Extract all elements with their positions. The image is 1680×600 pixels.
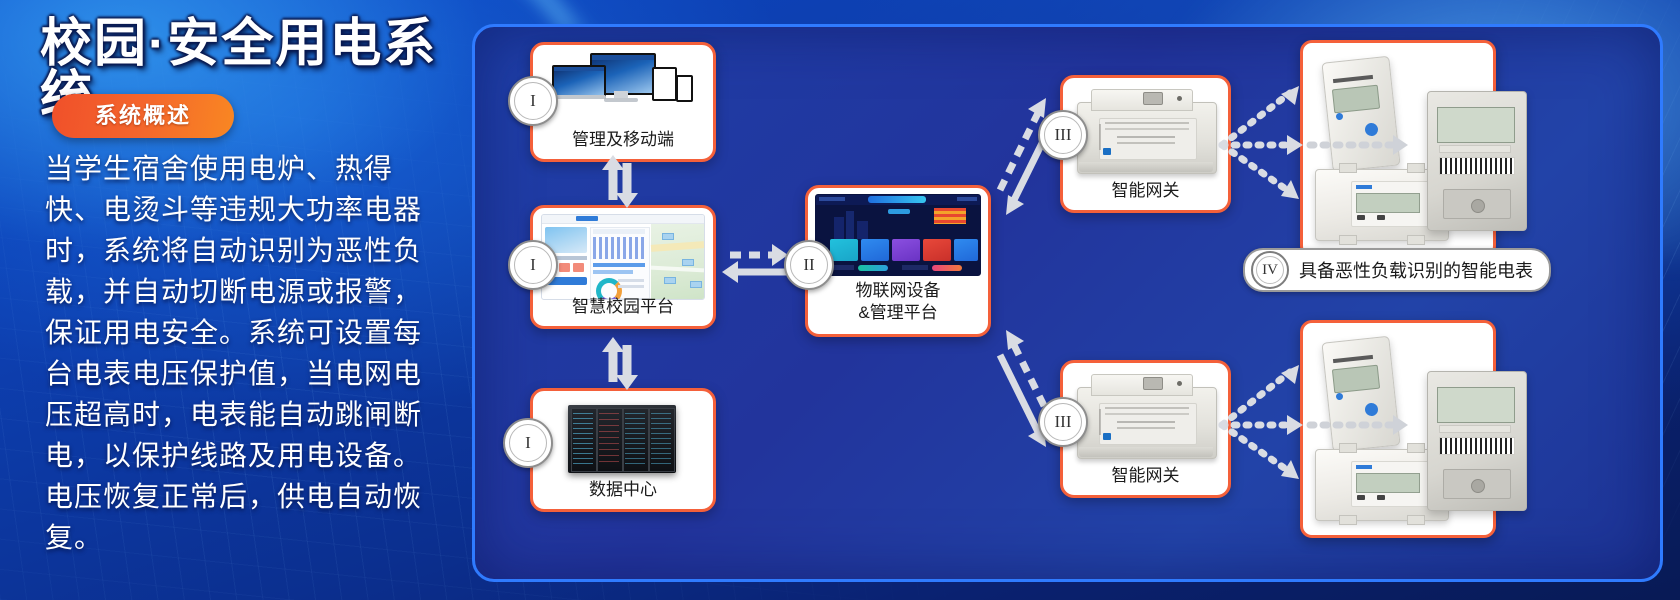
badge-management-text: I	[510, 78, 556, 124]
badge-smart-meter-text: IV	[1253, 253, 1287, 287]
badge-management: I	[508, 76, 558, 126]
server-rack-icon	[533, 399, 713, 477]
left-column: 校园·安全用电系统 系统概述 当学生宿舍使用电炉、热得快、电烫斗等违规大功率电器…	[0, 0, 470, 600]
badge-gateway-top-text: III	[1040, 112, 1086, 158]
poster-root: 校园·安全用电系统 系统概述 当学生宿舍使用电炉、热得快、电烫斗等违规大功率电器…	[0, 0, 1680, 600]
smart-meter-label-text: 具备恶性负载识别的智能电表	[1299, 257, 1533, 283]
badge-iot-platform-text: II	[786, 242, 832, 288]
node-gateway-bottom-label: 智能网关	[1063, 465, 1228, 487]
badge-gateway-bottom-text: III	[1040, 399, 1086, 445]
smart-meter-icon	[1421, 365, 1531, 515]
badge-campus-platform-text: I	[510, 242, 556, 288]
smart-meter-icon	[1317, 53, 1409, 173]
overview-paragraph: 当学生宿舍使用电炉、热得快、电烫斗等违规大功率电器时，系统将自动识别为恶性负载，…	[45, 148, 435, 558]
node-iot-platform-label-line2: &管理平台	[808, 302, 988, 324]
dashboard-map-icon	[541, 214, 705, 300]
multi-device-icon	[533, 51, 713, 113]
node-data-center-label: 数据中心	[533, 479, 713, 501]
section-badge-label: 系统概述	[52, 94, 234, 138]
smart-gateway-icon	[1063, 369, 1228, 465]
node-iot-platform-label-line1: 物联网设备	[808, 280, 988, 302]
node-campus-platform-label: 智慧校园平台	[533, 296, 713, 318]
node-gateway-top-label: 智能网关	[1063, 180, 1228, 202]
meter-panel-top[interactable]	[1300, 40, 1496, 258]
smart-meter-icon	[1421, 85, 1531, 235]
smart-meter-icon	[1317, 333, 1409, 453]
badge-campus-platform: I	[508, 240, 558, 290]
iot-dashboard-icon	[815, 194, 981, 276]
meter-panel-bottom[interactable]	[1300, 320, 1496, 538]
badge-data-center-text: I	[505, 420, 551, 466]
smart-meter-label[interactable]: IV 具备恶性负载识别的智能电表	[1243, 248, 1551, 292]
section-badge: 系统概述	[52, 94, 234, 138]
badge-data-center: I	[503, 418, 553, 468]
node-data-center[interactable]: 数据中心	[530, 388, 716, 512]
node-iot-platform-label: 物联网设备 &管理平台	[808, 280, 988, 324]
badge-gateway-bottom: III	[1038, 397, 1088, 447]
badge-smart-meter: IV	[1251, 251, 1289, 289]
badge-gateway-top: III	[1038, 110, 1088, 160]
node-management-label: 管理及移动端	[533, 129, 713, 151]
badge-iot-platform: II	[784, 240, 834, 290]
